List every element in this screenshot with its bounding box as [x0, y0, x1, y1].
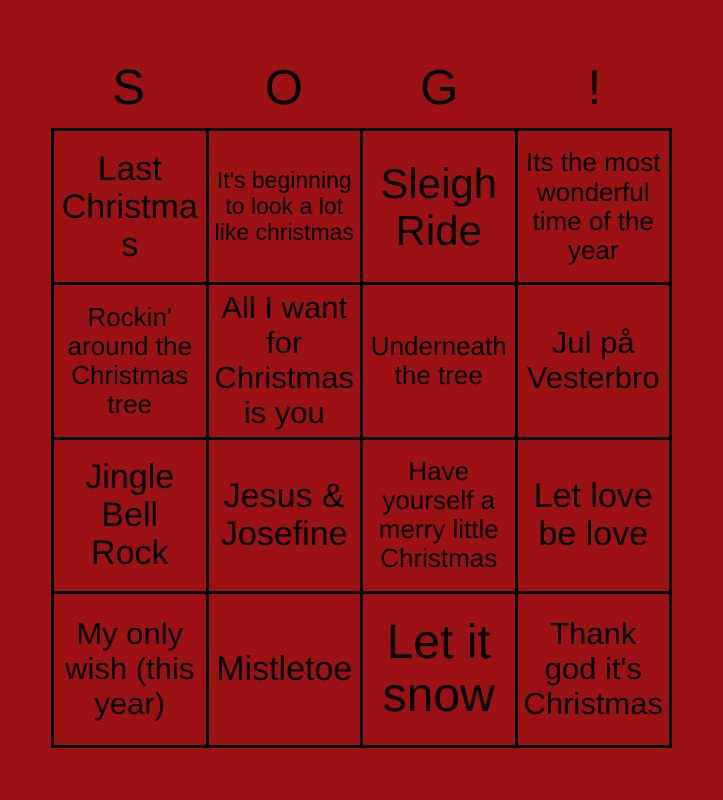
bingo-cell-label: Jesus & Josefine	[214, 477, 356, 553]
bingo-cell-label: Let it snow	[368, 616, 510, 724]
header-letter-3: G	[362, 64, 517, 113]
bingo-cell[interactable]: Let love be love	[518, 440, 673, 594]
bingo-cell-label: Sleigh Ride	[368, 160, 510, 254]
bingo-cell-label: Let love be love	[523, 477, 665, 553]
bingo-cell[interactable]: Last Christmas	[54, 131, 209, 285]
bingo-cell[interactable]: Jul på Vesterbro	[518, 285, 673, 439]
bingo-cell[interactable]: Underneath the tree	[363, 285, 518, 439]
bingo-cell[interactable]: Jingle Bell Rock	[54, 440, 209, 594]
bingo-grid: Last ChristmasIt's beginning to look a l…	[51, 128, 672, 748]
bingo-cell-label: All I want for Christmas is you	[214, 291, 356, 430]
header-letter-2: O	[206, 64, 361, 113]
bingo-cell-label: Jingle Bell Rock	[59, 458, 201, 572]
bingo-cell-label: Have yourself a merry little Christmas	[368, 457, 510, 573]
bingo-cell[interactable]: Sleigh Ride	[363, 131, 518, 285]
bingo-cell[interactable]: Its the most wonderful time of the year	[518, 131, 673, 285]
bingo-cell-label: Underneath the tree	[368, 332, 510, 390]
bingo-cell-label: Last Christmas	[59, 150, 201, 264]
bingo-cell[interactable]: Have yourself a merry little Christmas	[363, 440, 518, 594]
bingo-cell-label: Thank god it's Christmas	[523, 617, 665, 721]
bingo-cell[interactable]: Mistletoe	[209, 594, 364, 748]
bingo-card: S O G ! Last ChristmasIt's beginning to …	[0, 0, 723, 800]
header-letter-4: !	[517, 64, 672, 113]
bingo-cell-label: Rockin' around the Christmas tree	[59, 303, 201, 419]
bingo-cell[interactable]: Rockin' around the Christmas tree	[54, 285, 209, 439]
bingo-cell[interactable]: Let it snow	[363, 594, 518, 748]
bingo-header-row: S O G !	[51, 52, 672, 124]
bingo-cell[interactable]: Jesus & Josefine	[209, 440, 364, 594]
bingo-cell[interactable]: My only wish (this year)	[54, 594, 209, 748]
bingo-cell[interactable]: Thank god it's Christmas	[518, 594, 673, 748]
bingo-cell-label: My only wish (this year)	[59, 617, 201, 721]
bingo-cell-label: Jul på Vesterbro	[523, 326, 665, 395]
bingo-cell-label: It's beginning to look a lot like christ…	[214, 168, 356, 245]
header-letter-1: S	[51, 64, 206, 113]
bingo-cell-label: Its the most wonderful time of the year	[523, 148, 665, 264]
bingo-cell[interactable]: It's beginning to look a lot like christ…	[209, 131, 364, 285]
bingo-cell[interactable]: All I want for Christmas is you	[209, 285, 364, 439]
bingo-cell-label: Mistletoe	[214, 650, 356, 688]
